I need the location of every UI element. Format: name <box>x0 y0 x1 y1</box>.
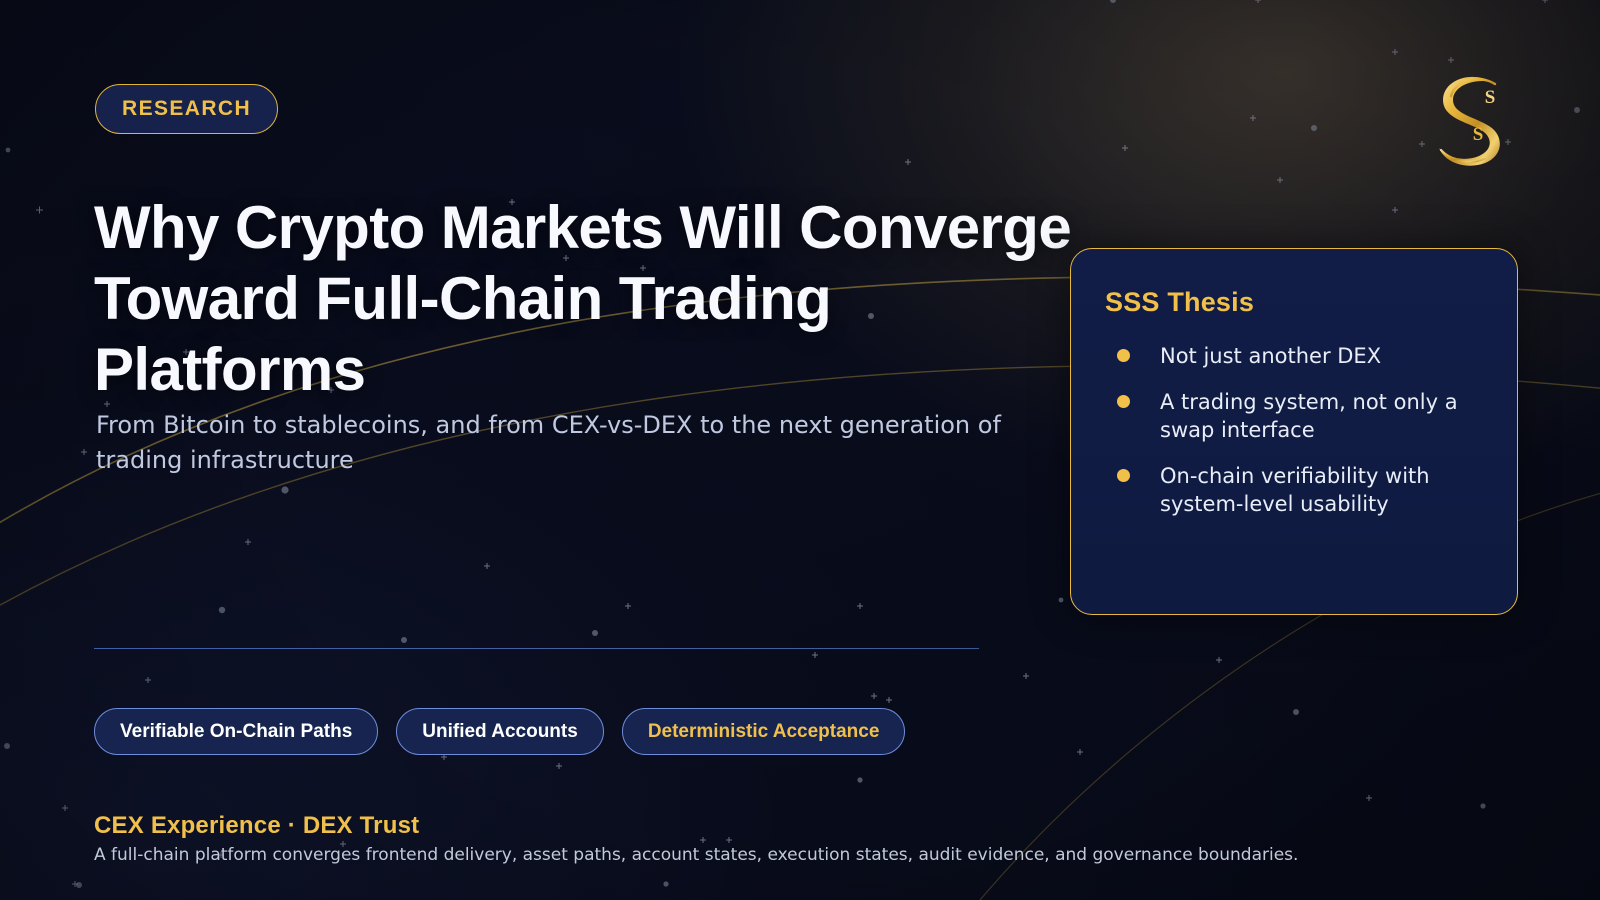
section-divider <box>94 648 979 649</box>
footer-title: CEX Experience · DEX Trust <box>94 812 1298 840</box>
list-item: A trading system, not only a swap interf… <box>1105 388 1483 444</box>
svg-text:S: S <box>1485 87 1496 108</box>
thesis-bullet-label: Not just another DEX <box>1160 342 1381 370</box>
thesis-bullet-label: On-chain verifiability with system-level… <box>1160 462 1460 518</box>
page-subtitle: From Bitcoin to stablecoins, and from CE… <box>96 408 1001 478</box>
sss-thesis-card: SSS Thesis Not just another DEX A tradin… <box>1070 248 1518 615</box>
list-item: On-chain verifiability with system-level… <box>1105 462 1483 518</box>
pill-deterministic-acceptance[interactable]: Deterministic Acceptance <box>622 708 906 755</box>
feature-pill-group: Verifiable On-Chain Paths Unified Accoun… <box>94 708 905 755</box>
bullet-dot-icon <box>1117 469 1130 482</box>
svg-text:S: S <box>1473 124 1484 145</box>
footer-subtitle: A full-chain platform converges frontend… <box>94 845 1298 865</box>
list-item: Not just another DEX <box>1105 342 1483 370</box>
sss-swash-logo-icon: S S <box>1429 62 1515 172</box>
footer: CEX Experience · DEX Trust A full-chain … <box>94 812 1298 865</box>
pill-unified-accounts[interactable]: Unified Accounts <box>396 708 604 755</box>
bullet-dot-icon <box>1117 395 1130 408</box>
thesis-bullet-label: A trading system, not only a swap interf… <box>1160 388 1460 444</box>
page-title: Why Crypto Markets Will Converge Toward … <box>94 192 1104 405</box>
slide-canvas: RESEARCH S S Why Crypto Markets Will Con… <box>0 0 1600 900</box>
bullet-dot-icon <box>1117 349 1130 362</box>
thesis-bullet-list: Not just another DEX A trading system, n… <box>1105 342 1483 518</box>
research-badge[interactable]: RESEARCH <box>95 84 278 134</box>
thesis-card-title: SSS Thesis <box>1105 287 1483 318</box>
pill-verifiable-on-chain-paths[interactable]: Verifiable On-Chain Paths <box>94 708 378 755</box>
research-badge-label: RESEARCH <box>122 97 251 121</box>
